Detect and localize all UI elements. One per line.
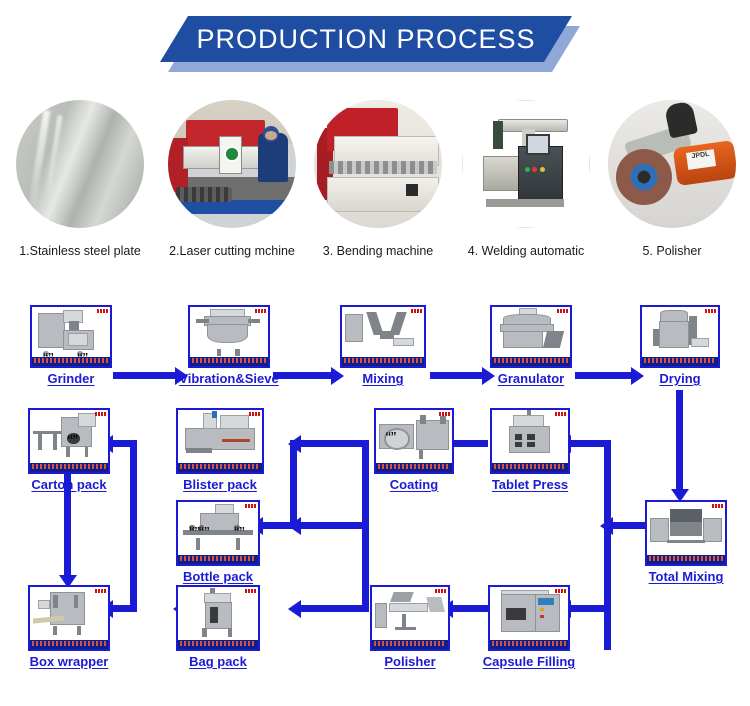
watermark-bar	[372, 640, 448, 649]
flow-node-mixing[interactable]: Mixing	[340, 305, 426, 368]
flow-arrowhead-bottle-pack-right	[288, 517, 301, 535]
flow-arrow-bus-to-carton-pack	[112, 440, 137, 447]
flow-node-grinder[interactable]: Grinder	[30, 305, 112, 368]
flow-node-granulator[interactable]: Granulator	[490, 305, 572, 368]
watermark-red-mark	[249, 412, 260, 416]
flow-node-total-mixing[interactable]: Total Mixing	[645, 500, 727, 566]
flow-node-label: Capsule Filling	[483, 654, 575, 669]
watermark-bar	[178, 555, 258, 564]
welding-automatic-photo	[462, 100, 590, 228]
fabrication-step-bending-machine: 3. Bending machine	[304, 100, 452, 258]
watermark-red-mark	[95, 412, 106, 416]
flow-node-label: Coating	[390, 477, 438, 492]
laser-cutting-photo	[168, 100, 296, 228]
banner-ribbon: PRODUCTION PROCESS	[160, 16, 572, 62]
flow-arrow-bus-to-capsule-filling	[570, 605, 611, 612]
watermark-red-mark	[97, 309, 108, 313]
watermark-bar	[30, 463, 108, 472]
flow-node-label: Polisher	[384, 654, 435, 669]
polisher-photo: JPDL	[608, 100, 736, 228]
watermark-red-mark	[555, 412, 566, 416]
flow-bus-right-vertical	[604, 440, 611, 650]
fabrication-step-laser-cutting-machine: 2.Laser cutting mchine	[158, 100, 306, 258]
watermark-bar	[376, 463, 452, 472]
flow-node-box-wrapper[interactable]: Box wrapper	[28, 585, 110, 651]
flow-node-label: Total Mixing	[649, 569, 724, 584]
fabrication-step-polisher: JPDL 5. Polisher	[598, 100, 746, 258]
flow-arrow-polisher-to-bagpack	[300, 605, 362, 612]
production-flow-diagram: Grinder Vibration&Sieve	[0, 290, 750, 706]
flow-node-label: Granulator	[498, 371, 564, 386]
watermark-red-mark	[435, 589, 446, 593]
flow-arrow-capsule-filling-to-polisher	[452, 605, 488, 612]
watermark-bar	[492, 463, 568, 472]
watermark-bar	[647, 555, 725, 564]
flow-node-bottle-pack[interactable]: Bottle pack	[176, 500, 260, 566]
fabrication-step-welding-automatic: 4. Welding automatic	[452, 100, 600, 258]
fabrication-step-caption: 3. Bending machine	[304, 244, 452, 258]
flow-node-label: Vibration&Sieve	[179, 371, 278, 386]
watermark-bar	[490, 640, 568, 649]
flow-arrowhead-bag-pack	[288, 600, 301, 618]
flow-arrow-drying-to-total-mixing	[676, 390, 683, 492]
flow-arrow-bus-to-boxwrapper-row	[112, 605, 137, 612]
flow-node-label: Tablet Press	[492, 477, 568, 492]
flow-arrow-busright-to-bottle-pack	[300, 522, 369, 529]
flow-node-label: Drying	[659, 371, 700, 386]
flow-arrow-bus-to-tablet-press	[570, 440, 611, 447]
watermark-red-mark	[245, 504, 256, 508]
flow-node-label: Bag pack	[189, 654, 247, 669]
watermark-bar	[342, 357, 424, 366]
watermark-red-mark	[557, 309, 568, 313]
fabrication-photo-row: 1.Stainless steel plate 2.Laser cutting …	[0, 100, 750, 280]
watermark-red-mark	[555, 589, 566, 593]
flow-node-carton-pack[interactable]: Carton pack	[28, 408, 110, 474]
stainless-plate-photo	[16, 100, 144, 228]
watermark-bar	[32, 357, 110, 366]
flow-node-bag-pack[interactable]: Bag pack	[176, 585, 260, 651]
flow-node-vibration-sieve[interactable]: Vibration&Sieve	[188, 305, 270, 368]
flow-arrow-coating-to-blister	[300, 440, 366, 447]
watermark-red-mark	[95, 589, 106, 593]
flow-node-label: Grinder	[48, 371, 95, 386]
fabrication-step-stainless-steel-plate: 1.Stainless steel plate	[6, 100, 154, 258]
flow-node-label: Bottle pack	[183, 569, 253, 584]
watermark-bar	[178, 463, 262, 472]
watermark-red-mark	[439, 412, 450, 416]
watermark-bar	[190, 357, 268, 366]
fabrication-step-caption: 5. Polisher	[598, 244, 746, 258]
watermark-red-mark	[245, 589, 256, 593]
flow-node-drying[interactable]: Drying	[640, 305, 720, 368]
fabrication-step-caption: 1.Stainless steel plate	[6, 244, 154, 258]
watermark-bar	[30, 640, 108, 649]
flow-node-blister-pack[interactable]: Blister pack	[176, 408, 264, 474]
page-header: PRODUCTION PROCESS	[160, 16, 580, 74]
flow-node-capsule-filling[interactable]: Capsule Filling	[488, 585, 570, 651]
flow-node-label: Blister pack	[183, 477, 257, 492]
flow-node-label: Carton pack	[31, 477, 106, 492]
watermark-red-mark	[255, 309, 266, 313]
flow-node-polisher[interactable]: Polisher	[370, 585, 450, 651]
page-title: PRODUCTION PROCESS	[196, 24, 535, 55]
watermark-bar	[492, 357, 570, 366]
watermark-red-mark	[411, 309, 422, 313]
fabrication-step-caption: 4. Welding automatic	[452, 244, 600, 258]
watermark-bar	[642, 357, 718, 366]
watermark-bar	[178, 640, 258, 649]
bending-machine-photo	[314, 100, 442, 228]
fabrication-step-caption: 2.Laser cutting mchine	[158, 244, 306, 258]
flow-bus-left-vertical	[130, 440, 137, 612]
watermark-red-mark	[705, 309, 716, 313]
watermark-red-mark	[712, 504, 723, 508]
flow-node-label: Mixing	[362, 371, 403, 386]
flow-arrow-tablet-press-to-coating	[452, 440, 488, 447]
flow-node-tablet-press[interactable]: Tablet Press	[490, 408, 570, 474]
flow-node-coating[interactable]: Coating	[374, 408, 454, 474]
flow-node-label: Box wrapper	[30, 654, 109, 669]
